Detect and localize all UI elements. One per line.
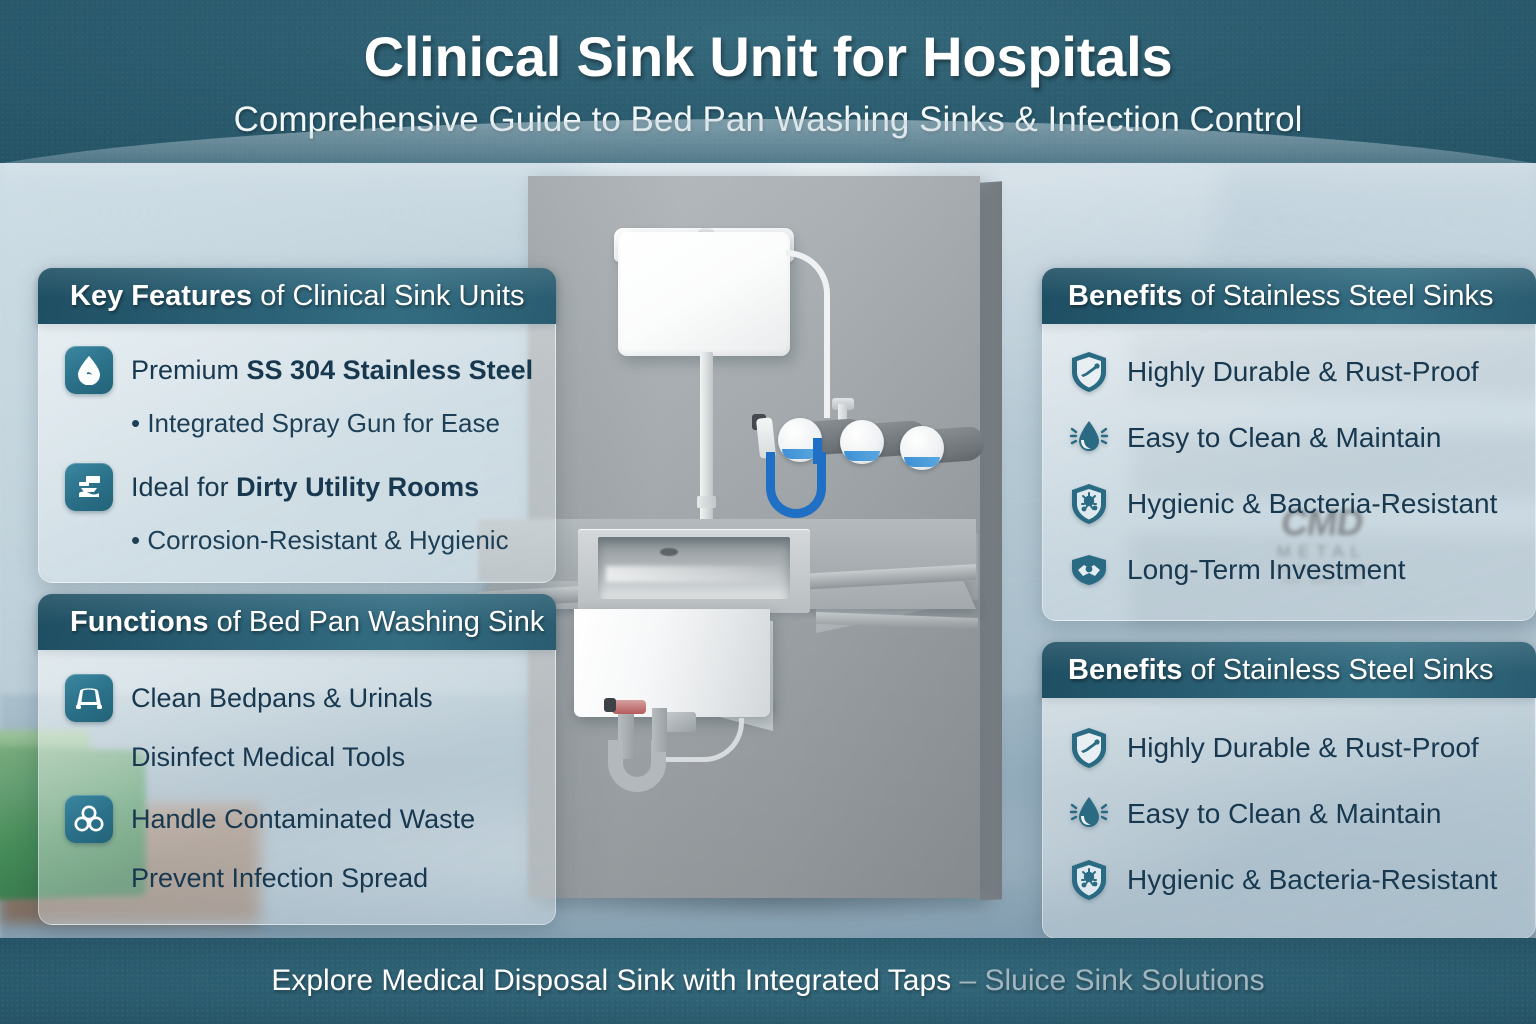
feature-2-text-bold: Dirty Utility Rooms — [236, 472, 479, 502]
feature-row-2[interactable]: Ideal for Dirty Utility Rooms — [65, 463, 535, 511]
benefit-bottom-row-2-label: Easy to Clean & Maintain — [1127, 798, 1441, 830]
benefit-bottom-row-1-label: Highly Durable & Rust-Proof — [1127, 732, 1479, 764]
infographic-canvas: R CMD METAL "The Name of Quality" ISO - … — [0, 0, 1536, 1024]
panel-benefits-bottom-body: Highly Durable & Rust-Proof — [1042, 698, 1536, 939]
benefit-top-row-2[interactable]: Easy to Clean & Maintain — [1065, 414, 1519, 462]
panel-functions-header: Functions of Bed Pan Washing Sink — [38, 594, 556, 650]
bedpan-icon — [65, 674, 113, 722]
panel-benefits-bottom-header: Benefits of Stainless Steel Sinks — [1042, 642, 1536, 698]
shield-handshake-icon — [1065, 546, 1113, 594]
feature-1-text-plain: Premium — [131, 355, 247, 385]
benefits-top-title-rest: of Stainless Steel Sinks — [1182, 280, 1493, 312]
benefit-top-row-4-label: Long-Term Investment — [1127, 554, 1406, 586]
panel-benefits-bottom-title: Benefits of Stainless Steel Sinks — [1068, 654, 1494, 687]
panel-functions-title: Functions of Bed Pan Washing Sink — [70, 606, 544, 639]
sparkle-droplet-icon — [1065, 414, 1113, 462]
footer-caption-main: Explore Medical Disposal Sink with Integ… — [271, 964, 951, 997]
benefits-bottom-title-bold: Benefits — [1068, 654, 1182, 686]
biohazard-waste-icon — [65, 795, 113, 843]
footer-caption: Explore Medical Disposal Sink with Integ… — [271, 964, 1264, 998]
benefit-top-row-1[interactable]: Highly Durable & Rust-Proof — [1065, 348, 1519, 396]
function-row-1-subtext: Disinfect Medical Tools — [131, 742, 535, 773]
benefit-bottom-row-2[interactable]: Easy to Clean & Maintain — [1065, 790, 1519, 838]
benefits-bottom-title-rest: of Stainless Steel Sinks — [1182, 654, 1493, 686]
feature-1-text-bold: SS 304 Stainless Steel — [247, 355, 534, 385]
function-row-2-label: Handle Contaminated Waste — [131, 804, 475, 835]
shield-bacteria-icon — [1065, 856, 1113, 904]
panel-key-features: Key Features of Clinical Sink Units Prem… — [38, 268, 556, 583]
header-banner: Clinical Sink Unit for Hospitals Compreh… — [0, 0, 1536, 163]
feature-row-1-subtext: • Integrated Spray Gun for Ease — [131, 408, 535, 439]
feature-row-2-label: Ideal for Dirty Utility Rooms — [131, 472, 479, 503]
function-row-2[interactable]: Handle Contaminated Waste — [65, 795, 535, 843]
panel-benefits-top: Benefits of Stainless Steel Sinks Highly… — [1042, 268, 1536, 621]
functions-title-rest: of Bed Pan Washing Sink — [209, 606, 545, 638]
function-row-2-subtext: Prevent Infection Spread — [131, 863, 535, 894]
feature-2-text-plain: Ideal for — [131, 472, 236, 502]
panel-functions-body: Clean Bedpans & Urinals Disinfect Medica… — [38, 650, 556, 925]
functions-title-bold: Functions — [70, 606, 209, 638]
dirty-utility-room-icon — [65, 463, 113, 511]
shield-wrench-icon — [1065, 348, 1113, 396]
benefit-top-row-3-label: Hygienic & Bacteria-Resistant — [1127, 488, 1497, 520]
feature-row-1-label: Premium SS 304 Stainless Steel — [131, 355, 533, 386]
sparkle-droplet-icon — [1065, 790, 1113, 838]
function-row-1-label: Clean Bedpans & Urinals — [131, 683, 433, 714]
feature-row-1[interactable]: Premium SS 304 Stainless Steel — [65, 346, 535, 394]
shield-bacteria-icon — [1065, 480, 1113, 528]
footer-banner: Explore Medical Disposal Sink with Integ… — [0, 938, 1536, 1024]
panel-key-features-body: Premium SS 304 Stainless Steel • Integra… — [38, 324, 556, 583]
page-title: Clinical Sink Unit for Hospitals — [0, 24, 1536, 89]
footer-brand-name: – Sluice Sink Solutions — [959, 964, 1264, 997]
benefit-bottom-row-1[interactable]: Highly Durable & Rust-Proof — [1065, 724, 1519, 772]
benefits-top-title-bold: Benefits — [1068, 280, 1182, 312]
panel-title-rest: of Clinical Sink Units — [252, 280, 524, 312]
feature-row-2-subtext: • Corrosion-Resistant & Hygienic — [131, 525, 535, 556]
water-drop-icon — [65, 346, 113, 394]
benefit-bottom-row-3-label: Hygienic & Bacteria-Resistant — [1127, 864, 1497, 896]
benefit-top-row-1-label: Highly Durable & Rust-Proof — [1127, 356, 1479, 388]
shield-wrench-icon — [1065, 724, 1113, 772]
benefit-top-row-4[interactable]: Long-Term Investment — [1065, 546, 1519, 594]
benefit-top-row-3[interactable]: Hygienic & Bacteria-Resistant — [1065, 480, 1519, 528]
page-subtitle: Comprehensive Guide to Bed Pan Washing S… — [0, 100, 1536, 140]
panel-benefits-top-header: Benefits of Stainless Steel Sinks — [1042, 268, 1536, 324]
benefit-top-row-2-label: Easy to Clean & Maintain — [1127, 422, 1441, 454]
panel-functions: Functions of Bed Pan Washing Sink Clean … — [38, 594, 556, 925]
panel-benefits-top-title: Benefits of Stainless Steel Sinks — [1068, 280, 1494, 313]
panel-title-bold: Key Features — [70, 280, 252, 312]
panel-benefits-top-body: Highly Durable & Rust-Proof — [1042, 324, 1536, 621]
panel-key-features-title: Key Features of Clinical Sink Units — [70, 280, 525, 313]
benefit-bottom-row-3[interactable]: Hygienic & Bacteria-Resistant — [1065, 856, 1519, 904]
panel-key-features-header: Key Features of Clinical Sink Units — [38, 268, 556, 324]
panel-benefits-bottom: Benefits of Stainless Steel Sinks Highly… — [1042, 642, 1536, 939]
function-row-1[interactable]: Clean Bedpans & Urinals — [65, 674, 535, 722]
